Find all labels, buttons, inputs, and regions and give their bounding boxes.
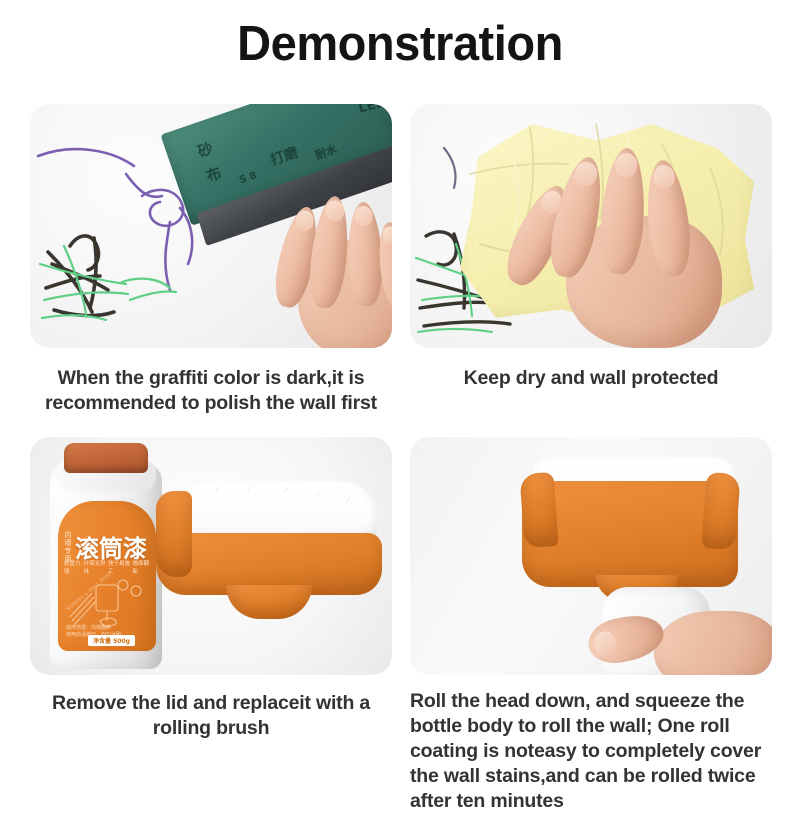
roller-housing-left-cap bbox=[156, 491, 192, 577]
step-1-photo: OBTAOCC LED 砂 布 打磨 耐水 S 8 bbox=[30, 104, 392, 348]
step-3-photo: 内墙专用 滚筒漆 遮盖力强 环保无异味 快干易施工 墙面翻新 bbox=[30, 437, 392, 675]
step-4-photo bbox=[410, 437, 772, 675]
roller-housing-right-horn bbox=[701, 472, 740, 550]
label-footer-line: 适用范围：内墙翻新 bbox=[66, 625, 121, 632]
step-1-caption: When the graffiti color is dark,it is re… bbox=[30, 366, 392, 416]
svg-text:SHINING & WALL PAINT: SHINING & WALL PAINT bbox=[66, 571, 114, 613]
step-card-2: Keep dry and wall protected bbox=[410, 104, 772, 391]
step-card-3: 内墙专用 滚筒漆 遮盖力强 环保无异味 快干易施工 墙面翻新 bbox=[30, 437, 392, 741]
step-4-caption: Roll the head down, and squeeze the bott… bbox=[410, 689, 772, 814]
step-2-caption: Keep dry and wall protected bbox=[410, 366, 772, 391]
bottle-cap bbox=[64, 443, 148, 473]
step-card-1: OBTAOCC LED 砂 布 打磨 耐水 S 8 bbox=[30, 104, 392, 416]
label-illustration: SHINING & WALL PAINT bbox=[66, 571, 150, 629]
step-card-4: Roll the head down, and squeeze the bott… bbox=[410, 437, 772, 814]
bottle-label: 内墙专用 滚筒漆 遮盖力强 环保无异味 快干易施工 墙面翻新 bbox=[58, 501, 156, 651]
label-net-weight-badge: 净含量 500g bbox=[88, 635, 135, 646]
page-title: Demonstration bbox=[16, 16, 784, 72]
hand-squeezing-bottle bbox=[578, 595, 772, 675]
step-2-photo bbox=[410, 104, 772, 348]
hand-holding-sanding-block bbox=[262, 182, 392, 348]
step-3-caption: Remove the lid and replaceit with a roll… bbox=[30, 691, 392, 741]
roller-housing-left-horn bbox=[519, 472, 558, 548]
hand-wiping-wall bbox=[514, 134, 734, 348]
